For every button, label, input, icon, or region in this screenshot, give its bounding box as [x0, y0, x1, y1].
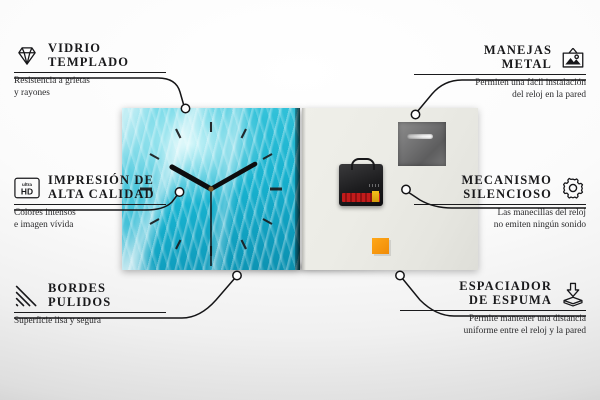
title-line-2: TEMPLADO — [48, 56, 129, 70]
ultra-hd-icon: ultra HD — [14, 175, 40, 201]
foam-spacer — [372, 238, 389, 254]
feature-desc-line-2: no emiten ningún sonido — [414, 220, 586, 231]
mechanism-detail — [369, 184, 379, 187]
feature-mecanismo-silencioso: MECANISMO SILENCIOSO Las manecillas del … — [414, 174, 586, 231]
hanger-loop — [351, 158, 375, 170]
divider — [414, 74, 586, 75]
feature-desc-line-1: Permiten una fácil instalación — [414, 78, 586, 89]
divider — [414, 204, 586, 205]
feature-bordes-pulidos: BORDES PULIDOS Superficie lisa y segura — [14, 282, 166, 328]
gear-icon — [560, 175, 586, 201]
glass-edge — [295, 108, 300, 270]
hd-label: HD — [21, 186, 33, 196]
title-line-1: IMPRESIÓN DE — [48, 174, 155, 188]
feature-title: ESPACIADOR DE ESPUMA — [459, 280, 552, 307]
feature-header: VIDRIO TEMPLADO — [14, 42, 166, 69]
feature-header: ESPACIADOR DE ESPUMA — [400, 280, 586, 307]
title-line-1: MECANISMO — [462, 174, 552, 188]
title-line-1: VIDRIO — [48, 42, 129, 56]
feature-header: MECANISMO SILENCIOSO — [414, 174, 586, 201]
feature-desc-line-2: y rayones — [14, 88, 166, 99]
title-line-1: MANEJAS — [484, 44, 552, 58]
title-line-2: ALTA CALIDAD — [48, 188, 155, 202]
battery — [342, 193, 380, 202]
picture-frame-hanger-icon — [560, 45, 586, 71]
divider — [400, 310, 586, 311]
feature-desc-line-1: Permite mantener una distancia — [400, 314, 586, 325]
feature-desc-line-1: Resistencia a grietas — [14, 76, 166, 87]
feature-manejas-metal: MANEJAS METAL Permiten una fácil instala… — [414, 44, 586, 101]
divider — [14, 72, 166, 73]
title-line-2: SILENCIOSO — [462, 188, 552, 202]
feature-desc-line-2: uniforme entre el reloj y la pared — [400, 326, 586, 337]
feature-impresion-alta-calidad: ultra HD IMPRESIÓN DE ALTA CALIDAD Color… — [14, 174, 166, 231]
title-line-1: BORDES — [48, 282, 111, 296]
feature-header: ultra HD IMPRESIÓN DE ALTA CALIDAD — [14, 174, 166, 201]
feature-header: BORDES PULIDOS — [14, 282, 166, 309]
feature-title: MECANISMO SILENCIOSO — [462, 174, 552, 201]
infographic-canvas: VIDRIO TEMPLADO Resistencia a grietas y … — [0, 0, 600, 400]
title-line-2: DE ESPUMA — [459, 294, 552, 308]
metal-hanger-plate — [398, 122, 446, 166]
feature-title: MANEJAS METAL — [484, 44, 552, 71]
feature-desc-line-2: del reloj en la pared — [414, 90, 586, 101]
feature-desc-line-1: Superficie lisa y segura — [14, 316, 166, 327]
feature-desc-line-1: Colores intensos — [14, 208, 166, 219]
feature-vidrio-templado: VIDRIO TEMPLADO Resistencia a grietas y … — [14, 42, 166, 99]
feature-title: IMPRESIÓN DE ALTA CALIDAD — [48, 174, 155, 201]
divider — [14, 312, 166, 313]
feature-title: BORDES PULIDOS — [48, 282, 111, 309]
title-line-2: PULIDOS — [48, 296, 111, 310]
diamond-icon — [14, 43, 40, 69]
hanger-slot — [407, 134, 433, 139]
title-line-2: METAL — [484, 58, 552, 72]
back-panel-edge — [302, 108, 306, 270]
feature-desc-line-2: e imagen vívida — [14, 220, 166, 231]
feature-espaciador-espuma: ESPACIADOR DE ESPUMA Permite mantener un… — [400, 280, 586, 337]
title-line-1: ESPACIADOR — [459, 280, 552, 294]
feature-desc-line-1: Las manecillas del reloj — [414, 208, 586, 219]
foam-spacer-icon — [560, 281, 586, 307]
polished-edges-icon — [14, 283, 40, 309]
feature-title: VIDRIO TEMPLADO — [48, 42, 129, 69]
clock-mechanism — [339, 164, 383, 206]
divider — [14, 204, 166, 205]
feature-header: MANEJAS METAL — [414, 44, 586, 71]
